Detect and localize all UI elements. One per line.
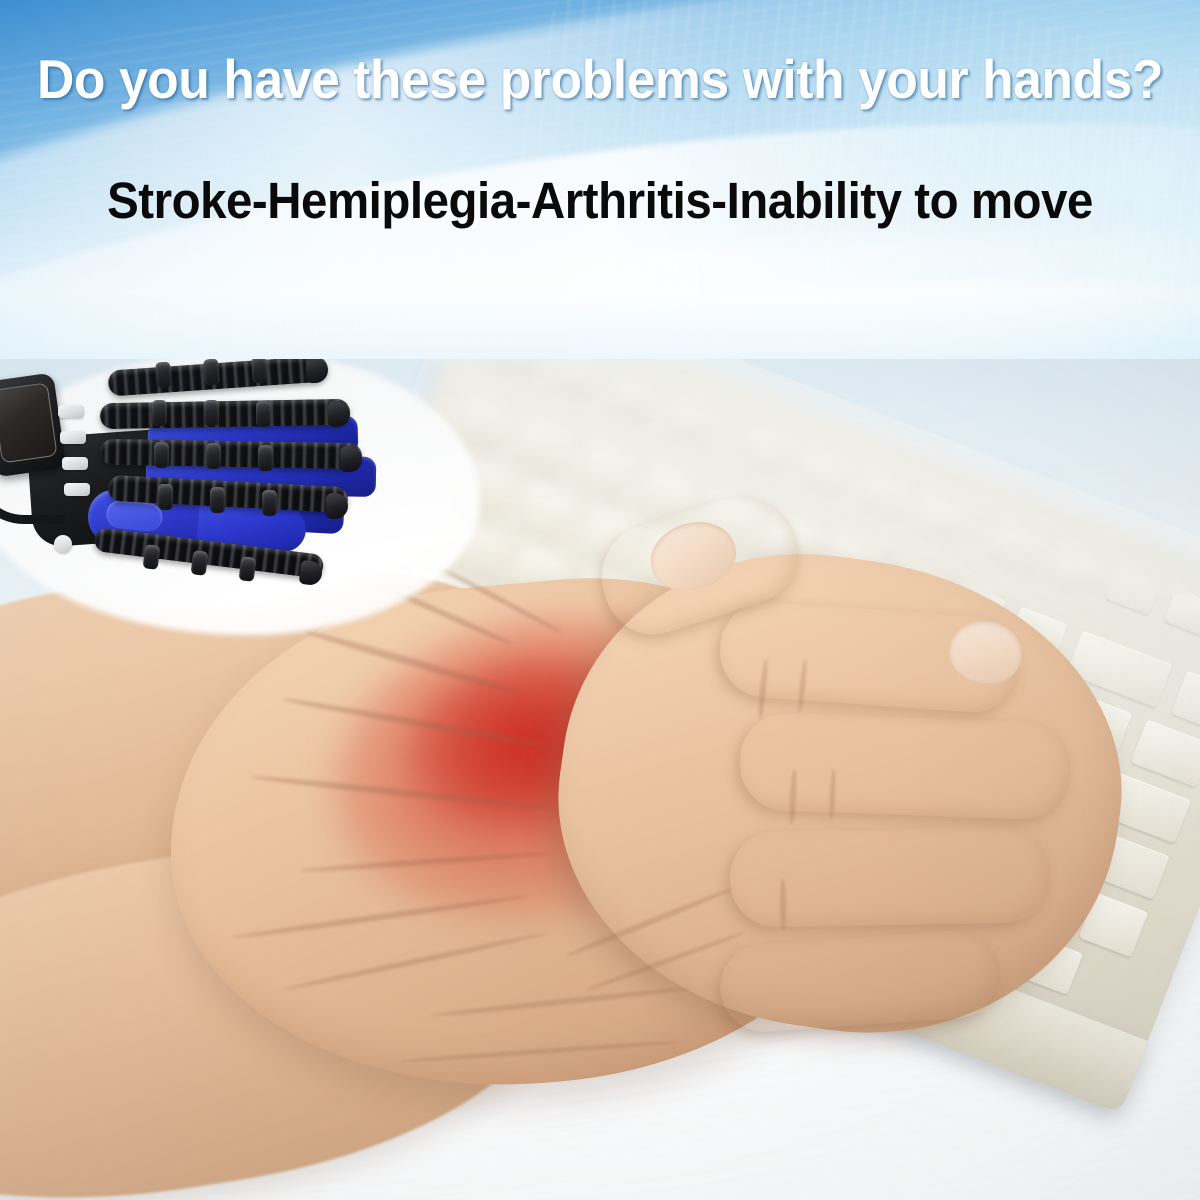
glove-actuator-joint [239,556,257,582]
glove-actuator-tip [306,359,329,383]
glove-actuator-joint [262,490,277,516]
glove-actuator-joint [204,400,219,426]
glove-actuator-joint [258,445,273,471]
glove-connector-clip [60,431,86,444]
glove-actuator-joint [206,443,221,469]
glove-connector-clip [58,405,84,418]
glove-actuator-joint [203,359,220,385]
glove-connector-clip [54,535,72,553]
glove-finger-actuator [100,439,362,470]
product-photo: Ctrl Fn Alt Ctrl [0,359,1200,1200]
headline-primary: Do you have these problems with your han… [36,47,1164,111]
finger-ring [729,826,1051,928]
glove-actuator-joint [155,362,172,389]
glove-actuator-tip [326,493,348,519]
glove-actuator-joint [191,550,209,576]
knuckle-wrinkle [780,879,786,931]
advertisement-canvas: Do you have these problems with your han… [0,0,1200,1200]
glove-actuator-joint [251,359,268,383]
glove-connector-clip [62,457,88,470]
headline-secondary: Stroke-Hemiplegia-Arthritis-Inability to… [42,170,1158,232]
glove-actuator-joint [143,544,161,570]
rehabilitation-robot-glove [0,359,500,645]
glove-actuator-joint [158,484,173,510]
control-module-screen [0,382,58,463]
glove-actuator-joint [210,487,225,513]
glove-connector-clip [64,483,90,496]
finger-middle [738,711,1071,820]
glove-control-module [0,372,66,477]
banner-header: Do you have these problems with your han… [0,0,1200,359]
glove-finger-actuator [100,399,350,429]
glove-thumb-plate-pad [105,499,164,533]
glove-actuator-joint [256,401,271,427]
glove-actuator-joint [152,400,167,426]
glove-actuator-joint [154,442,169,468]
finger-little [717,927,1002,1034]
product-inset [0,359,500,645]
